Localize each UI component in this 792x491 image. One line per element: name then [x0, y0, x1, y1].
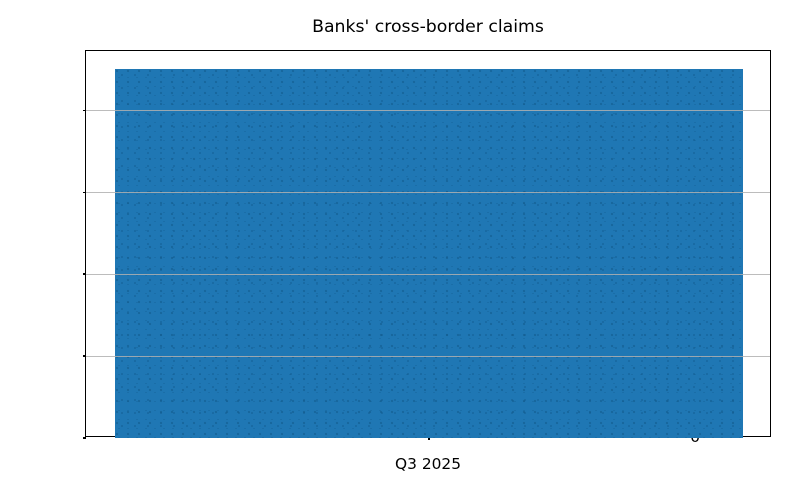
y-tick-mark	[83, 273, 87, 274]
gridline	[86, 356, 770, 357]
x-tick-mark	[428, 436, 429, 440]
chart-figure: Banks' cross-border claims USD trillions…	[0, 0, 792, 491]
y-tick-mark	[83, 437, 87, 438]
gridline	[86, 110, 770, 111]
bars-layer	[86, 51, 770, 436]
bar	[115, 69, 743, 438]
chart-title: Banks' cross-border claims	[85, 16, 771, 38]
gridline	[86, 192, 770, 193]
y-tick-mark	[83, 192, 87, 193]
gridline	[86, 274, 770, 275]
x-tick-label: Q3 2025	[395, 455, 461, 473]
gridlines-layer	[86, 51, 770, 436]
y-tick-mark	[83, 110, 87, 111]
y-tick-mark	[83, 355, 87, 356]
plot-area	[85, 50, 771, 437]
